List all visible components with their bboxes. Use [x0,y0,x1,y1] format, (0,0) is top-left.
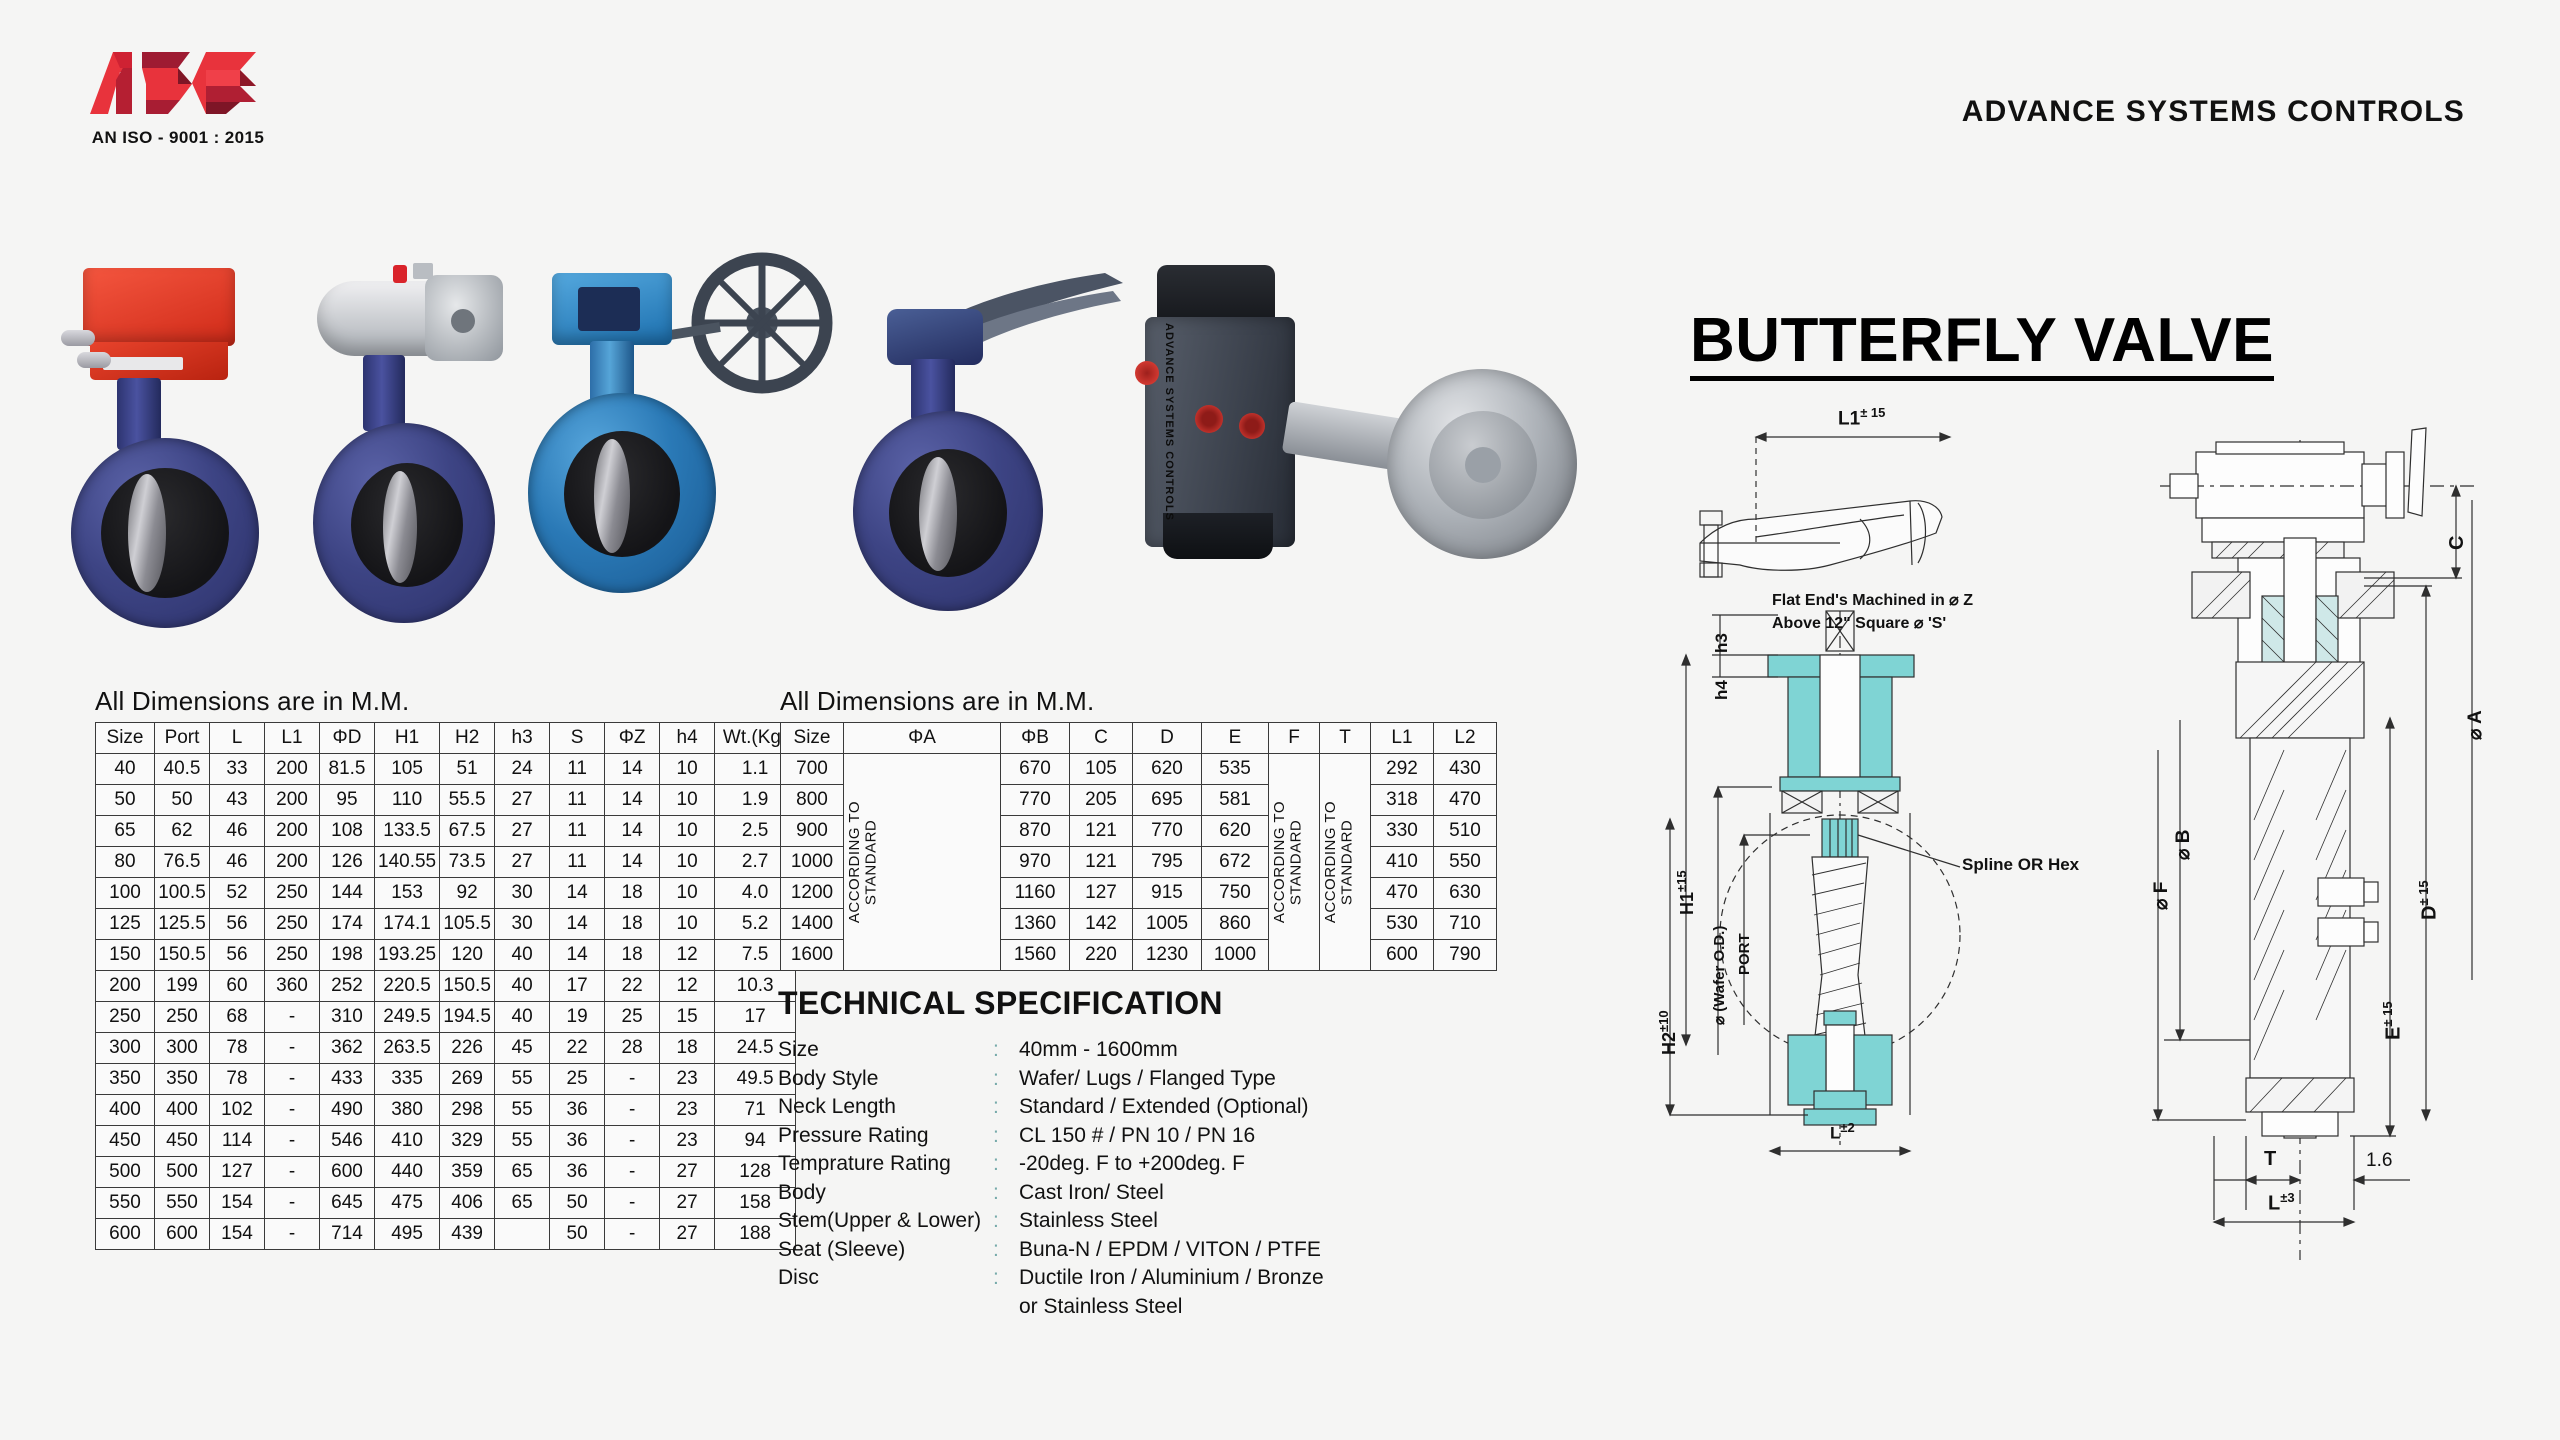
spec-row-4: Temprature Rating:-20deg. F to +200deg. … [778,1150,1498,1179]
table2-cell-0-3: 105 [1070,754,1133,785]
table2-cell-2-0: 900 [781,816,844,847]
spec-label-3: Pressure Rating [778,1122,993,1151]
table1-cell-13-2: 127 [210,1157,265,1188]
table2-cell-0-4: 620 [1133,754,1202,785]
table1-cell-9-0: 300 [96,1033,155,1064]
table1-cell-14-0: 550 [96,1188,155,1219]
table2-cell-5-2: 1360 [1001,909,1070,940]
table2-cell-5-5: 860 [1202,909,1269,940]
table1-cell-9-3: - [265,1033,320,1064]
spec-value-8: Ductile Iron / Aluminium / Bronze [1019,1264,1498,1293]
table1-cell-8-8: 19 [550,1002,605,1033]
table1-cell-6-7: 40 [495,940,550,971]
table1-note: All Dimensions are in M.M. [95,686,409,717]
table1-cell-7-2: 60 [210,971,265,1002]
table1-cell-0-9: 14 [605,754,660,785]
table2-body: 700ACCORDING TO STANDARD670105620535ACCO… [781,754,1497,971]
page-header: AN ISO - 9001 : 2015 ADVANCE SYSTEMS CON… [0,0,2560,190]
table1-cell-12-7: 55 [495,1126,550,1157]
table1-cell-9-7: 45 [495,1033,550,1064]
table2-merged-cell-f: ACCORDING TO STANDARD [1269,754,1320,971]
table1-cell-0-1: 40.5 [155,754,210,785]
table1-cell-9-9: 28 [605,1033,660,1064]
table1-cell-7-9: 22 [605,971,660,1002]
table2-cell-6-2: 1560 [1001,940,1070,971]
table1-cell-7-6: 150.5 [440,971,495,1002]
table1-cell-4-8: 14 [550,878,605,909]
table1-cell-9-10: 18 [660,1033,715,1064]
table1-cell-5-10: 10 [660,909,715,940]
table1-cell-3-7: 27 [495,847,550,878]
table1-cell-12-1: 450 [155,1126,210,1157]
table-row: 400400102-4903802985536-2371 [96,1095,796,1126]
table-row: 125125.556250174174.1105.5301418105.2 [96,909,796,940]
spec-colon-2: : [993,1093,1019,1122]
spec-value-6: Stainless Steel [1019,1207,1498,1236]
table1-cell-5-4: 174 [320,909,375,940]
table2-cell-1-8: 318 [1371,785,1434,816]
label-D: D± 15 [2416,880,2442,920]
table1-cell-11-6: 298 [440,1095,495,1126]
table2-cell-3-8: 410 [1371,847,1434,878]
table1-cell-8-9: 25 [605,1002,660,1033]
table2-cell-5-9: 710 [1434,909,1497,940]
table1-cell-11-0: 400 [96,1095,155,1126]
drawing-flanged-section: C D± 15 E± 15 ⌀ A ⌀ B ⌀ F T 1.6 L±3 [2150,420,2550,1300]
table1-cell-0-8: 11 [550,754,605,785]
dimension-table-large-sizes: SizeΦAΦBCDEFTL1L2 700ACCORDING TO STANDA… [780,722,1497,971]
table2-cell-0-0: 700 [781,754,844,785]
table2-cell-2-8: 330 [1371,816,1434,847]
table1-cell-15-5: 495 [375,1219,440,1250]
table2-cell-2-5: 620 [1202,816,1269,847]
spec-colon-0: : [993,1036,1019,1065]
table1-cell-3-10: 10 [660,847,715,878]
table2-cell-1-4: 695 [1133,785,1202,816]
table1-cell-0-2: 33 [210,754,265,785]
table1-cell-5-3: 250 [265,909,320,940]
table1-cell-2-7: 27 [495,816,550,847]
table1-cell-7-10: 12 [660,971,715,1002]
table1-cell-2-1: 62 [155,816,210,847]
label-C: C [2446,536,2469,550]
table1-cell-0-4: 81.5 [320,754,375,785]
table2-note: All Dimensions are in M.M. [780,686,1094,717]
table1-cell-1-3: 200 [265,785,320,816]
table1-cell-12-10: 23 [660,1126,715,1157]
table1-cell-5-8: 14 [550,909,605,940]
table1-cell-8-4: 310 [320,1002,375,1033]
table1-cell-0-10: 10 [660,754,715,785]
spec-value-1: Wafer/ Lugs / Flanged Type [1019,1065,1498,1094]
table2-header-row: SizeΦAΦBCDEFTL1L2 [781,723,1497,754]
table1-cell-15-1: 600 [155,1219,210,1250]
table1-cell-9-5: 263.5 [375,1033,440,1064]
spec-label-8: Disc [778,1264,993,1293]
table1-cell-1-6: 55.5 [440,785,495,816]
table2-cell-6-0: 1600 [781,940,844,971]
table1-cell-14-8: 50 [550,1188,605,1219]
table2-cell-3-5: 672 [1202,847,1269,878]
table1-cell-6-5: 193.25 [375,940,440,971]
table1-cell-6-10: 12 [660,940,715,971]
label-phi-F: ⌀ F [2150,882,2173,910]
label-port: PORT [1736,933,1753,975]
table1-cell-9-1: 300 [155,1033,210,1064]
table1-cell-12-2: 114 [210,1126,265,1157]
table1-cell-2-6: 67.5 [440,816,495,847]
table1-cell-6-4: 198 [320,940,375,971]
product-photo-electric-actuated-wafer-valve [55,260,285,650]
table1-header-9: ΦZ [605,723,660,754]
table1-cell-10-8: 25 [550,1064,605,1095]
table2-cell-0-2: 670 [1001,754,1070,785]
table2-cell-4-9: 630 [1434,878,1497,909]
table1-cell-1-7: 27 [495,785,550,816]
table1-cell-1-1: 50 [155,785,210,816]
table2-cell-5-0: 1400 [781,909,844,940]
table1-cell-1-10: 10 [660,785,715,816]
table1-cell-10-2: 78 [210,1064,265,1095]
table2-header-8: L1 [1371,723,1434,754]
table1-cell-1-4: 95 [320,785,375,816]
table2-cell-0-8: 292 [1371,754,1434,785]
table2-header-7: T [1320,723,1371,754]
table1-cell-7-5: 220.5 [375,971,440,1002]
table1-cell-15-7 [495,1219,550,1250]
technical-specification: TECHNICAL SPECIFICATION Size:40mm - 1600… [778,985,1498,1321]
table1-cell-8-1: 250 [155,1002,210,1033]
table1-cell-15-0: 600 [96,1219,155,1250]
table2-cell-4-2: 1160 [1001,878,1070,909]
spec-value-7: Buna-N / EPDM / VITON / PTFE [1019,1236,1498,1265]
table1-cell-8-7: 40 [495,1002,550,1033]
label-spline-or-hex: Spline OR Hex [1962,855,2079,875]
table1-cell-5-1: 125.5 [155,909,210,940]
table1-cell-8-5: 249.5 [375,1002,440,1033]
table1-cell-14-6: 406 [440,1188,495,1219]
label-flat-end-note-2: Above 12" Square ⌀ 'S' [1772,613,1946,633]
table1-cell-2-2: 46 [210,816,265,847]
table1-cell-7-1: 199 [155,971,210,1002]
table1-cell-11-1: 400 [155,1095,210,1126]
table2-merged-t-text: ACCORDING TO STANDARD [1323,801,1356,923]
table1-cell-10-0: 350 [96,1064,155,1095]
table1-cell-14-3: - [265,1188,320,1219]
table1-cell-12-3: - [265,1126,320,1157]
table1-cell-5-7: 30 [495,909,550,940]
table1-cell-2-0: 65 [96,816,155,847]
table1-cell-8-3: - [265,1002,320,1033]
table1-cell-3-0: 80 [96,847,155,878]
table1-cell-5-9: 18 [605,909,660,940]
spec-colon-3: : [993,1122,1019,1151]
spec-colon-4: : [993,1150,1019,1179]
table2-cell-0-9: 430 [1434,754,1497,785]
spec-label-1: Body Style [778,1065,993,1094]
table2-cell-5-3: 142 [1070,909,1133,940]
spec-label-5: Body [778,1179,993,1208]
table1-cell-8-6: 194.5 [440,1002,495,1033]
table2-cell-1-9: 470 [1434,785,1497,816]
table1-cell-13-4: 600 [320,1157,375,1188]
spec-row-3: Pressure Rating:CL 150 # / PN 10 / PN 16 [778,1122,1498,1151]
table-row: 30030078-362263.52264522281824.5 [96,1033,796,1064]
table1-cell-4-6: 92 [440,878,495,909]
table1-cell-11-8: 36 [550,1095,605,1126]
table1-cell-12-9: - [605,1126,660,1157]
table1-cell-9-4: 362 [320,1033,375,1064]
table1-cell-1-2: 43 [210,785,265,816]
table2-cell-2-4: 770 [1133,816,1202,847]
table1-cell-6-6: 120 [440,940,495,971]
table-row: 8076.546200126140.5573.5271114102.7 [96,847,796,878]
table1-cell-13-1: 500 [155,1157,210,1188]
table2-cell-4-0: 1200 [781,878,844,909]
spec-colon-8: : [993,1264,1019,1293]
spec-label-0: Size [778,1036,993,1065]
table1-cell-14-5: 475 [375,1188,440,1219]
table1-cell-14-7: 65 [495,1188,550,1219]
table2-cell-2-2: 870 [1001,816,1070,847]
label-H2: H2±10 [1656,1010,1680,1055]
table-row: 20019960360252220.5150.54017221210.3 [96,971,796,1002]
table1-header-10: h4 [660,723,715,754]
drawing-wafer-section: L1± 15 Flat End's Machined in ⌀ Z Above … [1660,415,2100,1175]
table1-cell-7-7: 40 [495,971,550,1002]
table1-cell-8-2: 68 [210,1002,265,1033]
table-row: 100100.55225014415392301418104.0 [96,878,796,909]
table1-cell-13-0: 500 [96,1157,155,1188]
table1-cell-2-9: 14 [605,816,660,847]
table2-header-5: E [1202,723,1269,754]
table1-cell-15-10: 27 [660,1219,715,1250]
label-E: E± 15 [2380,1001,2406,1040]
table1-cell-13-7: 65 [495,1157,550,1188]
table1-cell-15-9: - [605,1219,660,1250]
table-row: 700ACCORDING TO STANDARD670105620535ACCO… [781,754,1497,785]
spec-value-0: 40mm - 1600mm [1019,1036,1498,1065]
table2-header-0: Size [781,723,844,754]
table-row: 25025068-310249.5194.54019251517 [96,1002,796,1033]
table2-cell-0-5: 535 [1202,754,1269,785]
spec-value-5: Cast Iron/ Steel [1019,1179,1498,1208]
table2-cell-6-4: 1230 [1133,940,1202,971]
actuator-brand-text: ADVANCE SYSTEMS CONTROLS [1153,323,1175,533]
table1-cell-15-2: 154 [210,1219,265,1250]
table1-cell-10-4: 433 [320,1064,375,1095]
table1-cell-4-2: 52 [210,878,265,909]
table2-header-9: L2 [1434,723,1497,754]
table1-header-2: L [210,723,265,754]
table1-cell-3-4: 126 [320,847,375,878]
label-T: T [2264,1148,2276,1171]
table1-cell-10-10: 23 [660,1064,715,1095]
table1-cell-7-3: 360 [265,971,320,1002]
table1-cell-11-7: 55 [495,1095,550,1126]
table1-header-8: S [550,723,605,754]
table1-cell-9-6: 226 [440,1033,495,1064]
table1-cell-13-10: 27 [660,1157,715,1188]
table1-cell-4-0: 100 [96,878,155,909]
table-row: 600600154-71449543950-27188 [96,1219,796,1250]
table1-cell-14-4: 645 [320,1188,375,1219]
table1-cell-4-4: 144 [320,878,375,909]
technical-specification-title: TECHNICAL SPECIFICATION [778,985,1498,1022]
table1-cell-14-9: - [605,1188,660,1219]
table2-cell-1-0: 800 [781,785,844,816]
table1-cell-10-6: 269 [440,1064,495,1095]
label-gap-1-6: 1.6 [2366,1150,2392,1172]
label-phi-B: ⌀ B [2172,830,2195,860]
table1-cell-11-4: 490 [320,1095,375,1126]
table2-cell-2-3: 121 [1070,816,1133,847]
table1-cell-11-5: 380 [375,1095,440,1126]
asc-logo-icon [80,42,280,114]
wafer-section-svg [1660,415,2100,1175]
table1-cell-11-9: - [605,1095,660,1126]
table2-cell-5-8: 530 [1371,909,1434,940]
table1-cell-1-5: 110 [375,785,440,816]
table1-cell-5-2: 56 [210,909,265,940]
table1-cell-7-8: 17 [550,971,605,1002]
table1-cell-6-1: 150.5 [155,940,210,971]
table-row: 500500127-6004403596536-27128 [96,1157,796,1188]
spec-label-4: Temprature Rating [778,1150,993,1179]
table1-cell-14-10: 27 [660,1188,715,1219]
table1-cell-4-9: 18 [605,878,660,909]
table1-cell-3-2: 46 [210,847,265,878]
table1-cell-6-0: 150 [96,940,155,971]
table1-cell-7-4: 252 [320,971,375,1002]
product-photo-strip: ADVANCE SYSTEMS CONTROLS [55,235,1615,655]
dimension-table-small-sizes: SizePortLL1ΦDH1H2h3SΦZh4Wt.(Kg) 4040.533… [95,722,796,1250]
table1-cell-5-0: 125 [96,909,155,940]
label-flat-end-note-1: Flat End's Machined in ⌀ Z [1772,590,1973,610]
table1-cell-2-10: 10 [660,816,715,847]
spec-colon-7: : [993,1236,1019,1265]
spec-row-6: Stem(Upper & Lower):Stainless Steel [778,1207,1498,1236]
label-L1-dim: L1± 15 [1838,405,1885,430]
table1-cell-3-1: 76.5 [155,847,210,878]
table1-cell-3-6: 73.5 [440,847,495,878]
table1-header-3: L1 [265,723,320,754]
asc-logo [80,42,280,114]
table2-cell-3-2: 970 [1001,847,1070,878]
table1-header-4: ΦD [320,723,375,754]
table2-cell-1-2: 770 [1001,785,1070,816]
table1-header-1: Port [155,723,210,754]
table1-cell-14-2: 154 [210,1188,265,1219]
table2-cell-3-0: 1000 [781,847,844,878]
table1-cell-4-10: 10 [660,878,715,909]
table1-cell-12-5: 410 [375,1126,440,1157]
table1-cell-13-9: - [605,1157,660,1188]
table1-cell-4-1: 100.5 [155,878,210,909]
table1-cell-2-4: 108 [320,816,375,847]
table1-cell-10-3: - [265,1064,320,1095]
table2-cell-4-5: 750 [1202,878,1269,909]
product-photo-pneumatic-actuated-wafer-valve [295,263,520,648]
spec-row-2: Neck Length:Standard / Extended (Optiona… [778,1093,1498,1122]
table1-cell-13-5: 440 [375,1157,440,1188]
table2-merged-cell-t: ACCORDING TO STANDARD [1320,754,1371,971]
iso-certification-text: AN ISO - 9001 : 2015 [48,128,308,148]
table1-cell-5-6: 105.5 [440,909,495,940]
table1-cell-6-2: 56 [210,940,265,971]
spec-value-4: -20deg. F to +200deg. F [1019,1150,1498,1179]
table1-cell-0-6: 51 [440,754,495,785]
table1-header-7: h3 [495,723,550,754]
table1-cell-6-8: 14 [550,940,605,971]
spec-row-5: Body:Cast Iron/ Steel [778,1179,1498,1208]
table1-cell-1-9: 14 [605,785,660,816]
table1-cell-10-5: 335 [375,1064,440,1095]
table1-cell-0-0: 40 [96,754,155,785]
spec-colon-5: : [993,1179,1019,1208]
table1-cell-0-5: 105 [375,754,440,785]
table1-cell-12-6: 329 [440,1126,495,1157]
table1-cell-13-3: - [265,1157,320,1188]
spec-label-2: Neck Length [778,1093,993,1122]
table2-cell-5-4: 1005 [1133,909,1202,940]
spec-value-3: CL 150 # / PN 10 / PN 16 [1019,1122,1498,1151]
label-L-dim-right: L±3 [2268,1190,2295,1216]
table1-cell-15-3: - [265,1219,320,1250]
table2-header-3: C [1070,723,1133,754]
label-phi-A: ⌀ A [2464,710,2487,740]
spec-label-7: Seat (Sleeve) [778,1236,993,1265]
label-H1: H1±15 [1674,870,1698,915]
label-wafer-od: ⌀ (Wafer O.D.) [1710,926,1728,1025]
table1-cell-6-9: 18 [605,940,660,971]
table1-cell-6-3: 250 [265,940,320,971]
flanged-section-svg [2150,420,2550,1300]
table1-cell-3-3: 200 [265,847,320,878]
label-h3: h3 [1712,633,1732,653]
table2-cell-6-5: 1000 [1202,940,1269,971]
table1-cell-4-5: 153 [375,878,440,909]
product-photo-gear-operated-lug-valve [520,235,850,650]
label-L-dim-left: L±2 [1830,1120,1855,1144]
table2-cell-4-3: 127 [1070,878,1133,909]
table2-cell-4-8: 470 [1371,878,1434,909]
table1-cell-12-8: 36 [550,1126,605,1157]
table1-cell-1-8: 11 [550,785,605,816]
table2-header-2: ΦB [1001,723,1070,754]
table-row: 656246200108133.567.5271114102.5 [96,816,796,847]
table1-cell-7-0: 200 [96,971,155,1002]
table2-cell-1-5: 581 [1202,785,1269,816]
table1-cell-2-3: 200 [265,816,320,847]
table2-cell-6-3: 220 [1070,940,1133,971]
table2-header-6: F [1269,723,1320,754]
table1-body: 4040.53320081.510551241114101.1505043200… [96,754,796,1250]
spec-row-1: Body Style:Wafer/ Lugs / Flanged Type [778,1065,1498,1094]
table1-cell-2-8: 11 [550,816,605,847]
table2-merged-a-text: ACCORDING TO STANDARD [847,801,880,923]
table-row: 5050432009511055.5271114101.9 [96,785,796,816]
spec-colon-6: : [993,1207,1019,1236]
table1-cell-15-4: 714 [320,1219,375,1250]
table1-cell-0-3: 200 [265,754,320,785]
table1-cell-9-2: 78 [210,1033,265,1064]
table1-cell-15-6: 439 [440,1219,495,1250]
table1-header-5: H1 [375,723,440,754]
table1-cell-11-2: 102 [210,1095,265,1126]
table1-cell-14-1: 550 [155,1188,210,1219]
table1-cell-10-1: 350 [155,1064,210,1095]
